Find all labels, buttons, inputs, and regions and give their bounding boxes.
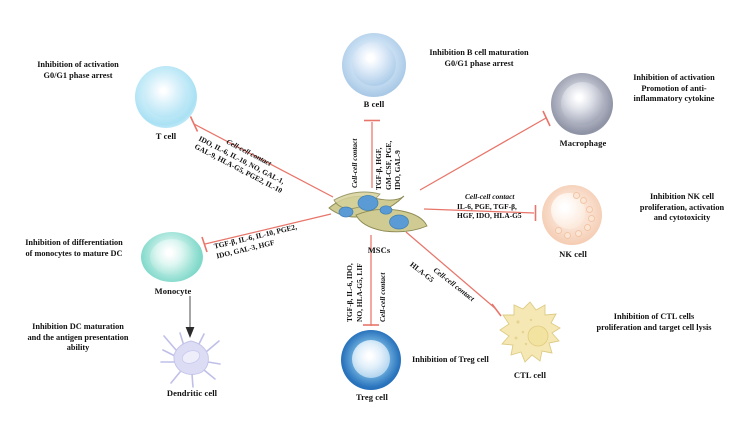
b-cell-contact-label: Cell-cell contact [350,139,360,188]
treg-cell-outcome: Inhibition of Treg cell [412,355,522,366]
ctl-cell-outcome: Inhibition of CTL cells proliferation an… [574,312,734,333]
monocyte-body [141,232,203,282]
t-cell-body [135,66,197,128]
nk-granule [580,197,587,204]
nk-granule [584,224,591,231]
t-cell-outcome: Inhibition of activation G0/G1 phase arr… [18,60,138,81]
dendritic-cell-label: Dendritic cell [152,388,232,398]
msc-cell-label: MSCs [334,245,424,255]
b-cell-label: B cell [334,99,414,109]
dendritic-cell-shape [160,332,222,388]
nk-cell-outcome: Inhibition NK cell proliferation, activa… [617,192,747,224]
b-cell-nucleus [352,42,396,86]
t-cell-pathway-labels: Cell-cell contact IDO, IL-6, IL-10, NO, … [193,125,293,196]
nk-cell-label: NK cell [534,249,612,259]
t-cell-label: T cell [126,131,206,141]
macrophage-nucleus [561,82,604,125]
dendritic-cell-body [160,332,222,388]
macrophage-label: Macrophage [543,138,623,148]
treg-cell-nucleus [352,340,390,378]
nk-granule [573,192,580,199]
monocyte-label: Monocyte [133,286,213,296]
nk-granule [588,215,595,222]
treg-cell-contact-label: Cell-cell contact [378,273,388,322]
macrophage-outcome: Inhibition of activation Promotion of an… [604,73,744,105]
nk-granule [564,232,571,239]
b-cell-outcome: Inhibition B cell maturation G0/G1 phase… [404,48,554,69]
monocyte-outcome: Inhibition of differentiation of monocyt… [10,238,138,259]
b-cell-mediator-labels: TGF-β, HGF, GM-CSF, PGE, IDO, GAL-9 [374,141,403,190]
msc-cell-cluster [326,182,430,244]
nk-cell-pathway-labels: Cell-cell contact IL-6, PGE, TGF-β, HGF,… [457,192,522,221]
nk-cell-body [542,185,602,245]
treg-cell-label: Treg cell [333,392,411,402]
treg-cell-mediator-labels: TGF-β, IL-6, IDO, NO, HLA-G5, LIF [345,263,364,322]
msc-immunomodulation-diagram: MSCs T cell Inhibition of activation G0/… [0,0,750,443]
nk-granule [586,206,593,213]
treg-cell-body [341,330,401,390]
ctl-cell-label: CTL cell [495,370,565,380]
nk-granule [555,227,562,234]
monocyte-nucleus [150,239,194,275]
t-cell-nucleus [144,74,188,118]
ctl-cell-pathway-labels: Cell-cell contact HLA-G5 [408,252,476,311]
b-cell-body [342,33,406,97]
dendritic-cell-outcome: Inhibition DC maturation and the antigen… [8,322,148,354]
nk-granule [575,230,582,237]
msc-cell-shapes [326,182,430,244]
monocyte-mediator-labels: TGF-β, IL-6, IL-10, PGE2, IDO, GAL-3, HG… [213,222,300,261]
